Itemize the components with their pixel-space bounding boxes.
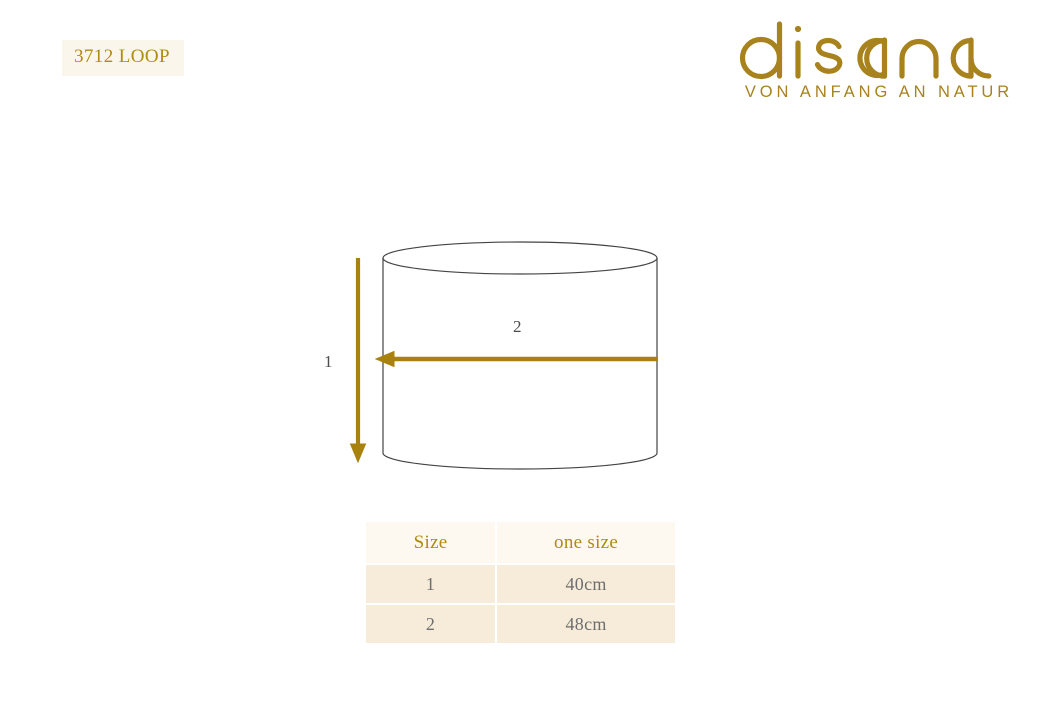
height-dimension-arrow [351,258,366,462]
cell-measure-2: 48cm [497,605,675,643]
measurement-diagram: 1 2 [300,225,700,485]
cell-size-2: 2 [366,605,497,643]
table-row: 1 40cm [366,565,675,605]
page-root: 3712 LOOP [0,0,1040,720]
dimension-label-1: 1 [324,353,333,370]
disana-wordmark-icon [732,18,1022,80]
cell-measure-1: 40cm [497,565,675,605]
column-header-one-size: one size [497,522,675,565]
loop-cylinder-illustration [300,225,700,485]
column-header-size: Size [366,522,497,565]
size-table-head: Size one size [366,522,675,565]
product-code-badge: 3712 LOOP [62,40,184,76]
brand-tagline: VON ANFANG AN NATUR [732,83,1022,102]
dimension-label-2: 2 [513,318,522,335]
width-dimension-arrow [376,352,658,367]
size-table: Size one size 1 40cm 2 48cm [366,522,675,643]
size-table-body: 1 40cm 2 48cm [366,565,675,643]
table-header-row: Size one size [366,522,675,565]
letter-i-dot-icon [795,26,801,32]
brand-logo: VON ANFANG AN NATUR [732,18,1022,102]
table-row: 2 48cm [366,605,675,643]
cell-size-1: 1 [366,565,497,605]
